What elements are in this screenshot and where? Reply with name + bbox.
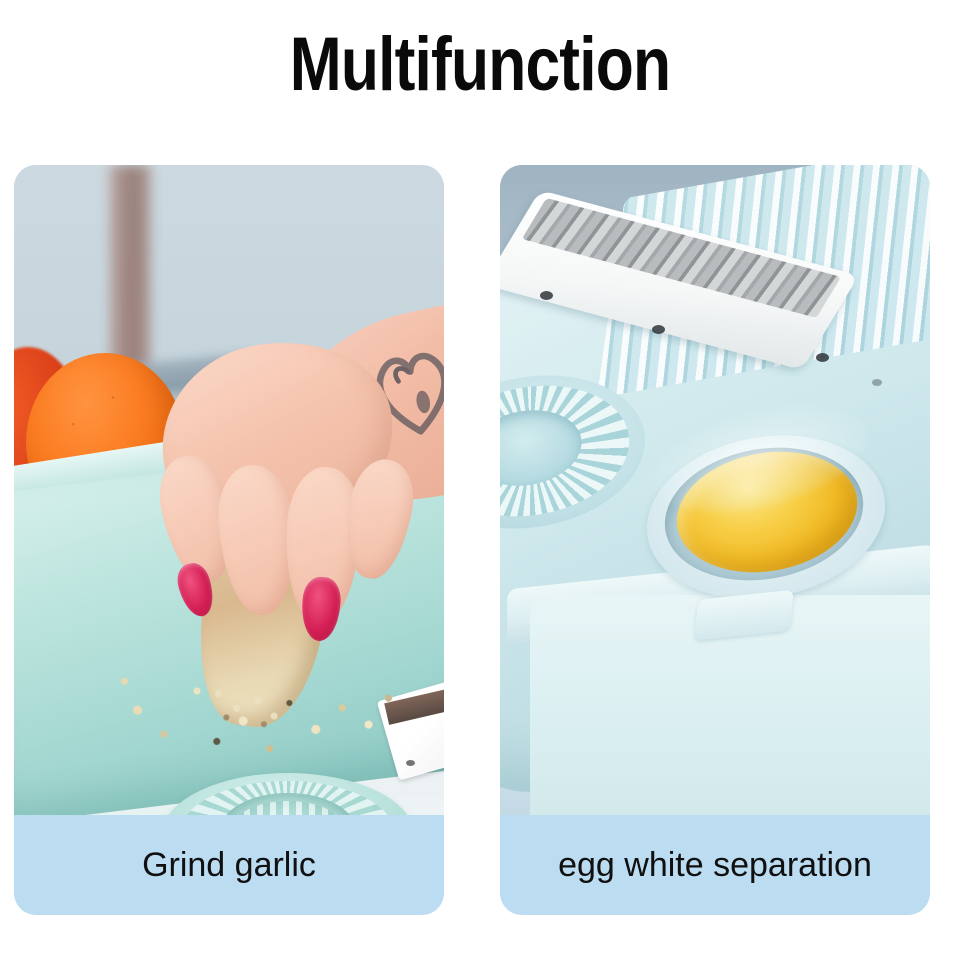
caption-label-egg-white-separation: egg white separation (558, 845, 872, 885)
lid-vent-hole (872, 379, 882, 386)
blade-screw (540, 291, 553, 300)
background-cabinet-edge (110, 165, 150, 380)
product-photo-grind-garlic (14, 165, 444, 815)
page-title: Multifunction (86, 22, 873, 108)
caption-bar-egg-white-separation: egg white separation (500, 815, 930, 915)
product-photo-egg-white-separation (500, 165, 930, 815)
caption-bar-grind-garlic: Grind garlic (14, 815, 444, 915)
caption-label-grind-garlic: Grind garlic (142, 845, 316, 885)
blade-insert-screw (406, 760, 415, 766)
feature-panel-egg-white-separation[interactable]: egg white separation (500, 165, 930, 915)
feature-panel-grind-garlic[interactable]: Grind garlic (14, 165, 444, 915)
blade-screw (652, 325, 665, 334)
blade-screw (816, 353, 829, 362)
